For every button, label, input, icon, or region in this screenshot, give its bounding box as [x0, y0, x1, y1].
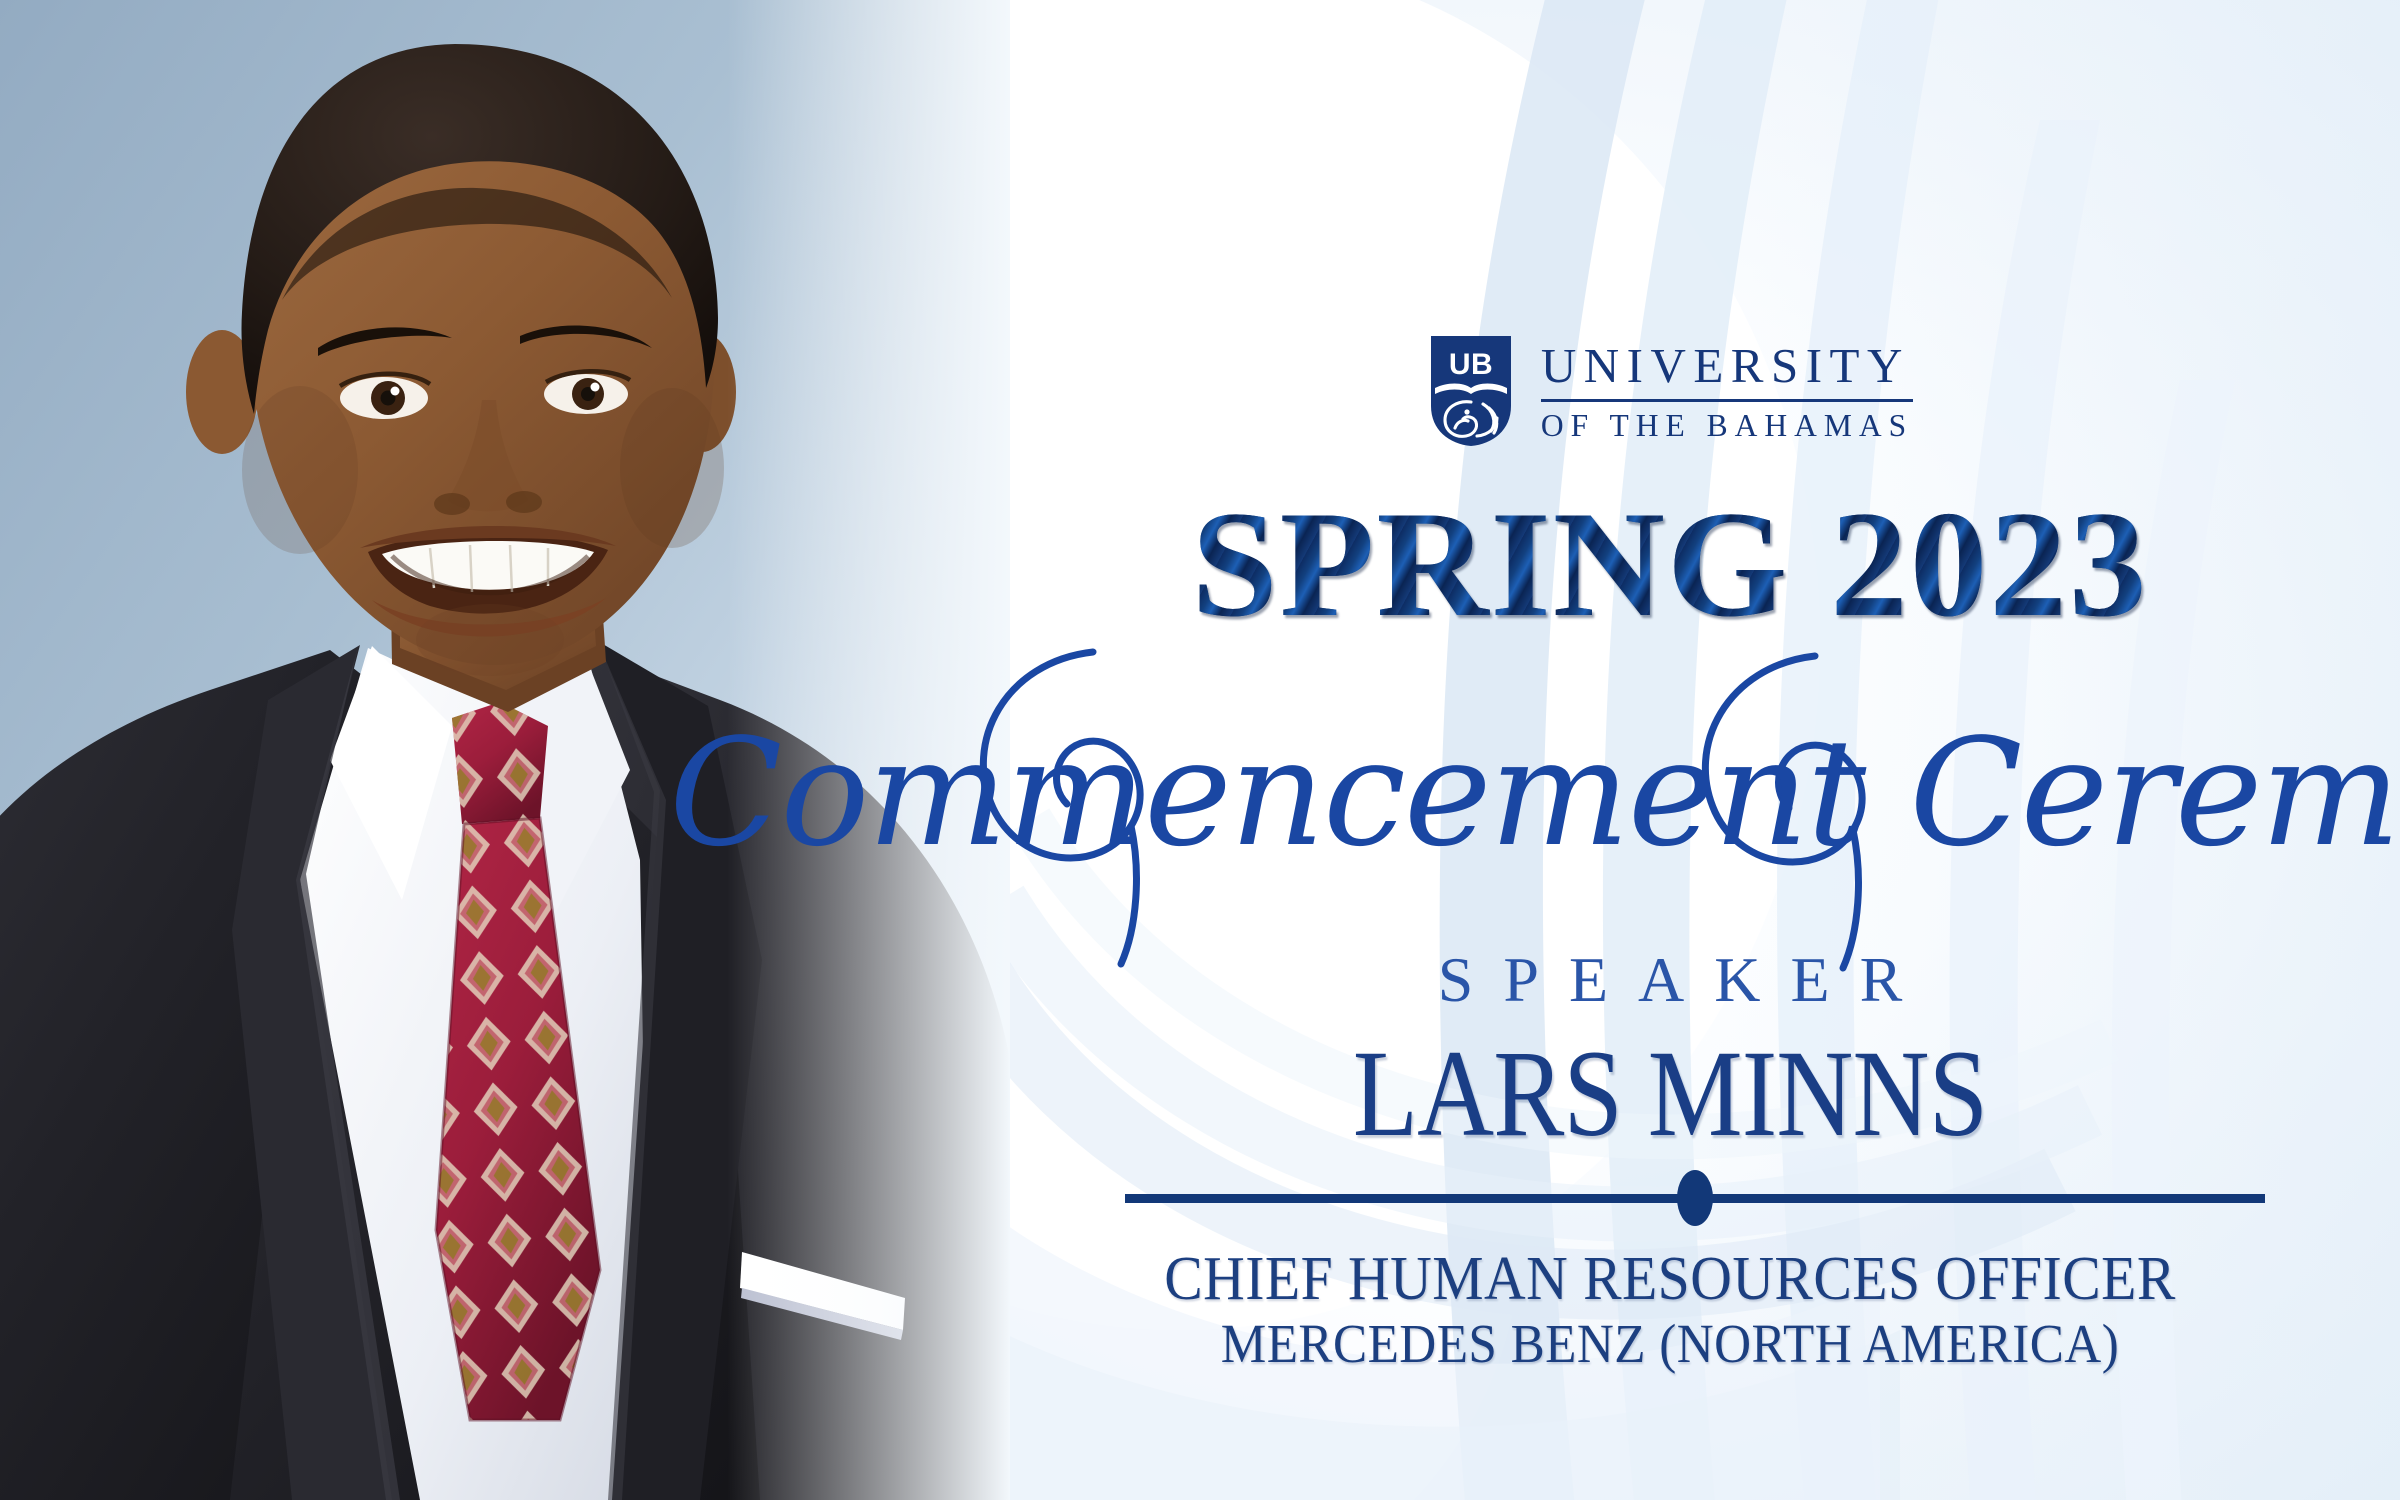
logo-bahamas-line: OF THE BAHAMAS — [1541, 410, 1913, 442]
divider-rule-with-dot — [1125, 1190, 2265, 1202]
logo-divider-rule — [1541, 399, 1913, 402]
logo-wordmark: UNIVERSITY OF THE BAHAMAS — [1541, 341, 1913, 442]
university-logo: UB UNIVERSITY OF THE BAHAMAS — [940, 332, 2400, 450]
logo-university-line: UNIVERSITY — [1541, 341, 1913, 390]
speaker-name: LARS MINNS — [1042, 1032, 2298, 1156]
script-headline-wrap: Commencement Ceremony — [930, 612, 2400, 942]
svg-text:UB: UB — [1449, 348, 1493, 381]
ub-shield-conch-emblem: UB — [1427, 332, 1515, 450]
speaker-kicker: SPEAKER — [940, 948, 2400, 1012]
announcement-content: UB UNIVERSITY OF THE BAHAMAS SPRING 2023 — [940, 0, 2400, 1500]
script-headline: Commencement Ceremony — [669, 707, 2400, 879]
speaker-organization: MERCEDES BENZ (NORTH AMERICA) — [991, 1316, 2349, 1371]
speaker-job-title: CHIEF HUMAN RESOURCES OFFICER — [991, 1248, 2349, 1310]
divider-center-dot — [1677, 1170, 1713, 1226]
commencement-speaker-poster: UB UNIVERSITY OF THE BAHAMAS SPRING 2023 — [0, 0, 2400, 1500]
